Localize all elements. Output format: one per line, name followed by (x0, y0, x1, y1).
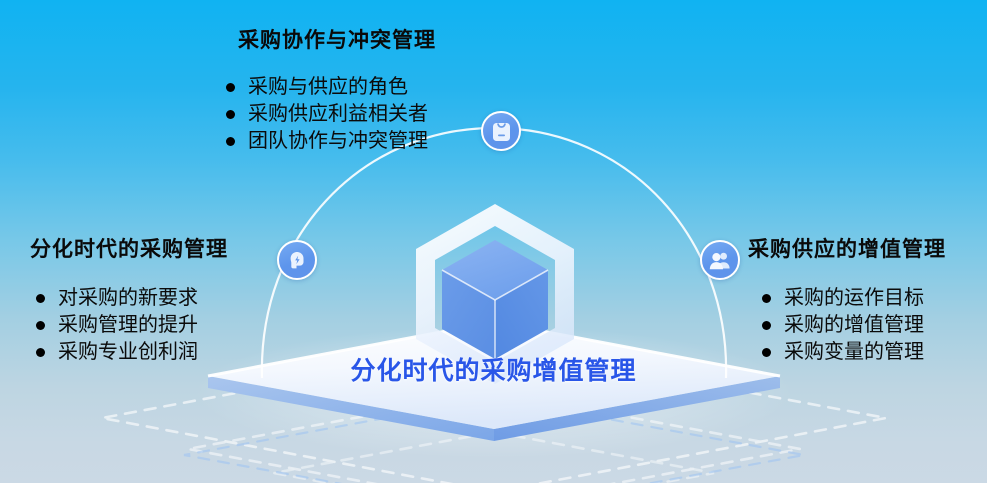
node-top[interactable] (481, 111, 521, 151)
node-left[interactable] (277, 240, 317, 280)
text-block-top: 采购协作与冲突管理 采购与供应的角色 采购供应利益相关者 团队协作与冲突管理 (238, 30, 436, 154)
list-item: 采购与供应的角色 (224, 73, 436, 100)
text-block-right: 采购供应的增值管理 采购的运作目标 采购的增值管理 采购变量的管理 (748, 239, 987, 365)
heading-top: 采购协作与冲突管理 (238, 30, 436, 51)
heading-left: 分化时代的采购管理 (30, 239, 280, 260)
users-group-icon (709, 251, 731, 270)
shopping-bag-icon (492, 121, 511, 142)
infographic-canvas: 采购协作与冲突管理 采购与供应的角色 采购供应利益相关者 团队协作与冲突管理 分… (0, 0, 987, 483)
list-item: 采购的运作目标 (760, 284, 987, 311)
bullet-list-top: 采购与供应的角色 采购供应利益相关者 团队协作与冲突管理 (224, 73, 436, 154)
list-item: 采购的增值管理 (760, 311, 987, 338)
list-item: 采购管理的提升 (34, 311, 280, 338)
text-block-left: 分化时代的采购管理 对采购的新要求 采购管理的提升 采购专业创利润 (30, 239, 280, 365)
list-item: 团队协作与冲突管理 (224, 127, 436, 154)
node-right[interactable] (700, 240, 740, 280)
list-item: 采购供应利益相关者 (224, 100, 436, 127)
heading-right: 采购供应的增值管理 (748, 239, 987, 260)
head-idea-icon (287, 250, 308, 271)
list-item: 对采购的新要求 (34, 284, 280, 311)
center-caption: 分化时代的采购增值管理 (0, 351, 987, 387)
